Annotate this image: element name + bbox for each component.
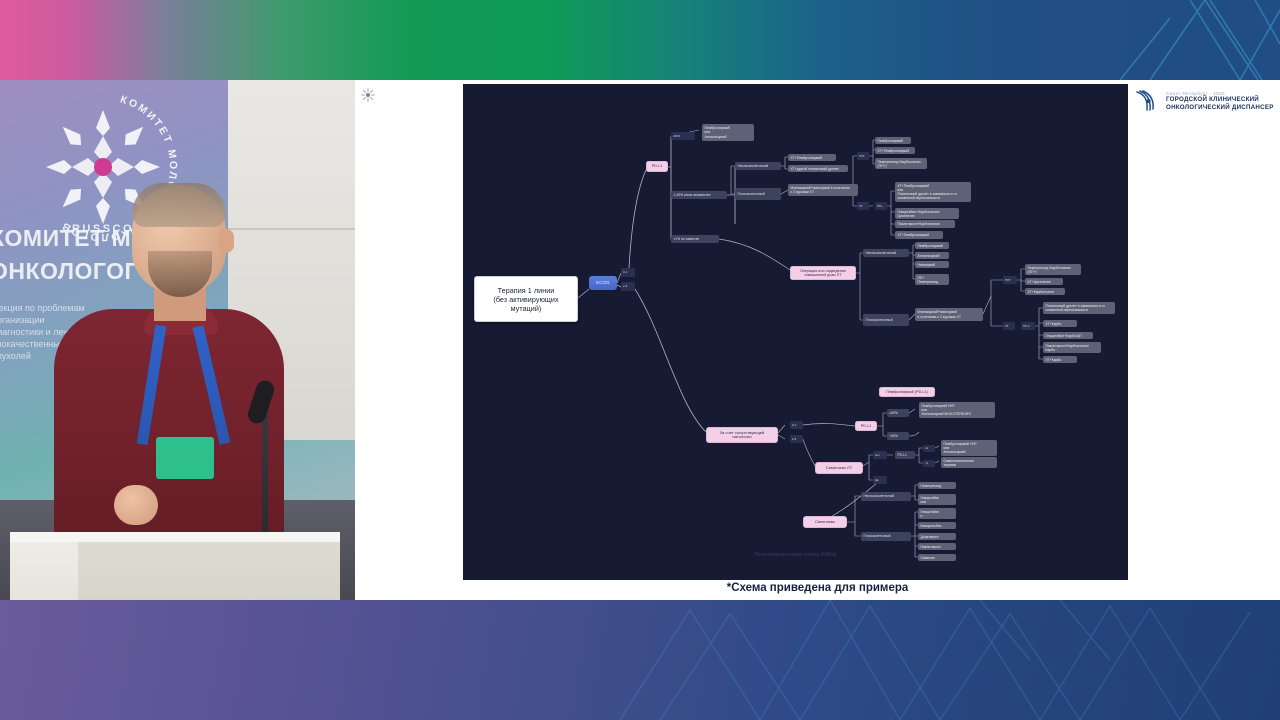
mindmap-node-tail-7[interactable]: Паклитаксел+Карбоплатин/ Карбо [1043, 342, 1101, 353]
mindmap-node-low-pal[interactable]: Симптомы [803, 516, 847, 528]
mindmap-node-sq-a[interactable]: Плоскоклеточный [735, 188, 781, 200]
mindmap-node-nonsq-a1[interactable]: ХТ+Пембролизумаб [788, 154, 836, 161]
mindmap-node-tail-3[interactable]: ХТ+Карбоплатин [1025, 288, 1065, 295]
mindmap-node-low-hub-a[interactable]: 0-1 [790, 421, 803, 429]
mindmap-node-pdl1-top[interactable]: PD-L1 [646, 161, 668, 172]
top-decorative-band [0, 0, 1280, 80]
mindmap-node-grp-b2-3[interactable]: Паклитаксел+Карбоплатин [895, 220, 955, 228]
mindmap-node-nonsq-b4[interactable]: ПП+ Пеметрексед [915, 274, 949, 285]
mindmap-node-sq-b1[interactable]: Ипилимумаб+ниволумаб в сочетании с 2 кур… [915, 308, 983, 321]
speaker-hand [114, 485, 158, 525]
mindmap-node-mono[interactable]: Пембролизумаб или Атезолизумаб [702, 124, 754, 141]
mindmap-node-low-sq3[interactable]: Доцетаксел [918, 533, 956, 540]
podium-lip [10, 532, 340, 542]
mindmap-node-tail-6[interactable]: Гемцитабин+Карбо/ЦП [1043, 332, 1093, 339]
mindmap-node-low-pdl1b1[interactable]: ≥1 [923, 445, 935, 452]
mindmap-node-low-sq[interactable]: Плоскоклеточный [861, 532, 911, 541]
mindmap-node-tail-2[interactable]: ХТ+Цисплатин [1025, 278, 1063, 285]
mindmap-node-low-sym-b[interactable]: Да [873, 476, 887, 484]
mindmap-node-grp-b2-2[interactable]: Гемцитабин+Карбоплатин/Цисплатин [895, 208, 959, 219]
mindmap-node-tail-5[interactable]: ХТ+Карбо [1043, 320, 1077, 327]
mindmap-node-sq-a1[interactable]: Ипилимумаб+ниволумаб в сочетании с 2 кур… [788, 184, 858, 196]
mindmap-node-nonsq-b3[interactable]: Ниволумаб [915, 261, 949, 268]
mindmap-node-gt50[interactable]: ≥50% [671, 132, 695, 140]
zigzag-pattern-bottom-icon [0, 600, 1280, 720]
mindmap-node-low-sym-a[interactable]: Нет [873, 451, 887, 459]
mindmap-node-tail-hub2b[interactable]: ПП-2 [1021, 322, 1035, 330]
mindmap-node-sp-2[interactable]: 2-3 [621, 282, 635, 291]
podium-face [78, 542, 340, 600]
mindmap-node-lt1[interactable]: <1% не известен [671, 235, 719, 243]
mindmap-node-grp-b2-1[interactable]: ХТ+Пембролизумаб или Платиновый дуплет в… [895, 182, 971, 202]
podium [10, 532, 340, 600]
mindmap-node-low-root[interactable]: За счет сопутствующей патологии [706, 427, 778, 443]
mindmap-node-nonsq-b[interactable]: Неплоскоклеточный [863, 249, 909, 257]
mindmap-node-low-pdl1[interactable]: PD-L1 [855, 421, 877, 431]
wave-logo-icon [1134, 88, 1160, 114]
speaker-badge [156, 437, 214, 479]
mindmap-root-node[interactable]: Терапия 1 линии (без активирующих мутаци… [474, 276, 578, 322]
mindmap-node-tail-1[interactable]: Пеметрексед+Карбоплатин (ПП+) [1025, 264, 1081, 275]
mindmap-node-grp-b1[interactable]: ПХТ [857, 152, 869, 160]
mindmap-node-nonsq-b2[interactable]: Атезолизумаб [915, 252, 949, 259]
loading-spinner-icon [361, 88, 375, 102]
mindmap-node-hub[interactable]: ЕСОG [589, 276, 617, 290]
mindmap-node-sp-01[interactable]: 0-1 [621, 268, 635, 277]
mindmap-node-mid49[interactable]: 1-49% и/или неизвестен [671, 191, 727, 199]
clinic-logo-line1: ГОРОДСКОЙ КЛИНИЧЕСКИЙ [1166, 96, 1274, 104]
mindmap-node-low-m1[interactable]: Пембролизумаб УНР или Атезолизумаб МОНОТ… [919, 402, 995, 418]
mindmap-node-grp-b2-4[interactable]: ХТ+Пембролизумаб [895, 231, 943, 239]
mindmap-node-grp-b1-2[interactable]: ХТ+Пембролизумаб [875, 147, 915, 154]
speaker-ear [218, 229, 234, 253]
speaker-hair [132, 183, 226, 227]
mindmap-node-tail-4[interactable]: Платиновый дуплет в зависимости от сниже… [1043, 302, 1115, 314]
mindmap-node-low-sq1[interactable]: Гемцитабин и [918, 508, 956, 519]
mindmap-node-low-hub-b[interactable]: 2-3 [790, 435, 803, 443]
mindmap-node-tail-hub2[interactable]: ХТ [1003, 322, 1015, 330]
mindmap-node-low-g50a[interactable]: ≥50% [887, 409, 909, 417]
mindmap-node-low-note[interactable]: Пембролизумаб (PD-L1) [879, 387, 935, 397]
broadcast-stage: КОМИТЕТ МОЛОДЫХ ОНКОЛОГОВ RUSSCO КОМИТЕТ… [0, 0, 1280, 720]
mindmap-node-grp-b2[interactable]: ХТ [857, 202, 869, 210]
mindmap-node-low-r2[interactable]: Симптоматическая терапия [941, 457, 997, 468]
mindmap-node-nonsq-a2[interactable]: ХТ+другой платиновый дуплет [788, 165, 848, 172]
mindmap-node-low-g50b[interactable]: <50% [887, 432, 909, 440]
mindmap-node-nonsq-b1[interactable]: Пембролизумаб [915, 242, 949, 249]
mindmap-node-low-nonsq2[interactable]: Гемцитабин или [918, 494, 956, 505]
zigzag-pattern-icon [0, 0, 1280, 80]
mindmap-node-low-nonsq[interactable]: Неплоскоклеточный [861, 492, 911, 501]
slide-caption: *Схема приведена для примера [355, 582, 1280, 594]
mindmap-node-grp-b2-lbl[interactable]: ПП+ [875, 202, 887, 210]
mindmap-node-low-sym[interactable]: Симптомы ЛТ [815, 462, 863, 474]
mindmap-node-tail-8[interactable]: ХТ+Карбо [1043, 356, 1077, 363]
mindmap-node-low-sq4[interactable]: Паклитаксел [918, 543, 956, 550]
mindmap-node-nonsq-a[interactable]: Неплоскоклеточный [735, 162, 781, 170]
canvas-watermark: Пользовательская схема XMind [463, 552, 1128, 558]
bottom-decorative-band: rosoncoweb.ru [0, 600, 1280, 720]
mindmap-canvas[interactable]: ЕСОG0-12-3PD-L1≥50%Пембролизумаб или Ате… [463, 84, 1128, 580]
speaker-video[interactable]: КОМИТЕТ МОЛОДЫХ ОНКОЛОГОВ RUSSCO КОМИТЕТ… [0, 80, 355, 600]
clinic-logo-line2: ОНКОЛОГИЧЕСКИЙ ДИСПАНСЕР [1166, 104, 1274, 112]
mindmap-node-grp-b1-3[interactable]: Пеметрексед+Карбоплатин (ПП+) [875, 158, 927, 169]
mindmap-node-tail-hub[interactable]: ПХТ [1003, 276, 1017, 284]
mindmap-node-grp-b1-1[interactable]: Пембролизумаб [875, 137, 911, 144]
mindmap-node-low-pdl1b[interactable]: PD-L1 [895, 451, 915, 459]
clinic-logo: Санкт-Петербург · 1925 ГОРОДСКОЙ КЛИНИЧЕ… [1134, 84, 1274, 118]
mindmap-node-low-pdl1b2[interactable]: <1 [923, 460, 935, 467]
mindmap-node-sq-b[interactable]: Плоскоклеточный [863, 314, 909, 326]
mindmap-node-low-nonsq1[interactable]: Пеметрексед [918, 482, 956, 489]
mindmap-node-low-r1[interactable]: Пембролизумаб УНР или Атезолизумаб [941, 440, 997, 456]
speaker-figure [36, 185, 276, 585]
mindmap-node-low-sq2[interactable]: Винорельбин [918, 522, 956, 529]
mindmap-node-pink-mid[interactable]: Операция или подведение повышенной дозы … [790, 266, 856, 280]
